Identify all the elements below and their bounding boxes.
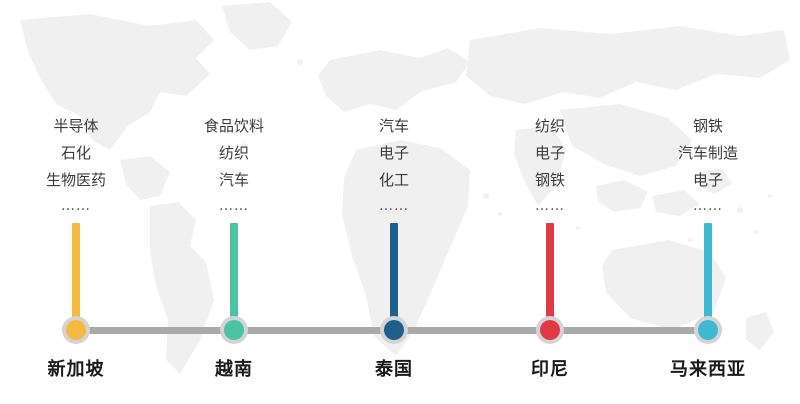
- node-marker-ring[interactable]: [380, 316, 408, 344]
- node-marker-dot: [224, 320, 244, 340]
- timeline-node-malaysia[interactable]: 钢铁 汽车制造 电子 …… 马来西亚: [613, 0, 800, 404]
- node-stem: [546, 223, 554, 331]
- industry-tag: 汽车制造: [613, 140, 800, 167]
- industry-tag: 电子: [613, 167, 800, 194]
- country-label: 马来西亚: [613, 355, 800, 381]
- node-stem: [390, 223, 398, 331]
- node-marker-dot: [384, 320, 404, 340]
- node-stem: [230, 223, 238, 331]
- node-marker-ring[interactable]: [536, 316, 564, 344]
- node-marker-dot: [698, 320, 718, 340]
- node-marker-ring[interactable]: [220, 316, 248, 344]
- node-marker-dot: [66, 320, 86, 340]
- node-marker-ring[interactable]: [62, 316, 90, 344]
- node-marker-dot: [540, 320, 560, 340]
- node-marker-ring[interactable]: [694, 316, 722, 344]
- node-stem: [72, 223, 80, 331]
- industry-more-ellipsis: ……: [613, 194, 800, 218]
- industry-list: 钢铁 汽车制造 电子 ……: [613, 113, 800, 218]
- node-stem: [704, 223, 712, 331]
- infographic-canvas: 半导体 石化 生物医药 …… 新加坡 食品饮料 纺织 汽车 …… 越南 汽车 电…: [0, 0, 800, 404]
- industry-tag: 钢铁: [613, 113, 800, 140]
